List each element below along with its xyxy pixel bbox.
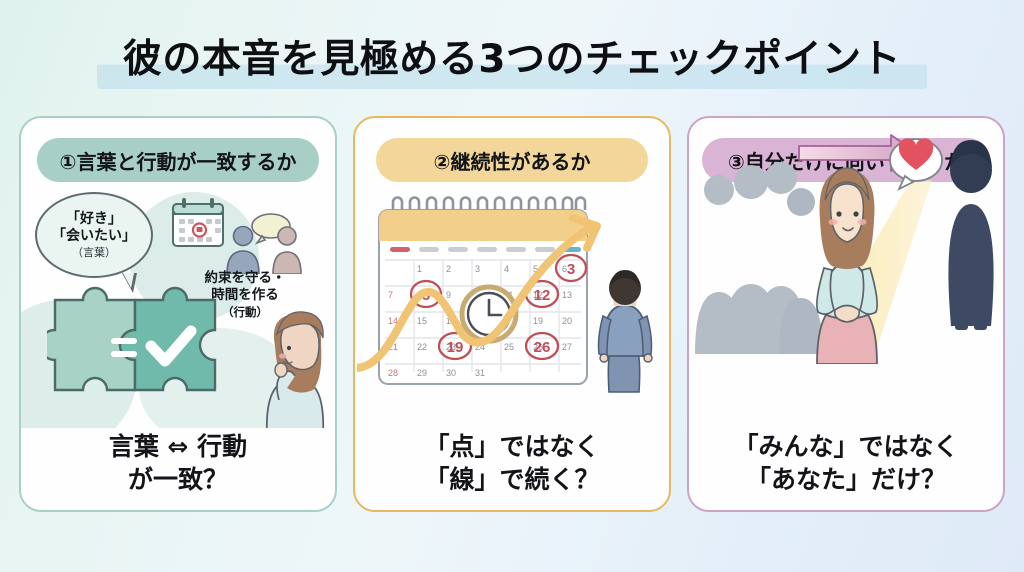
svg-text:19: 19 <box>447 339 464 356</box>
svg-text:29: 29 <box>417 368 427 378</box>
caption-line-2: が一致？ <box>21 463 335 496</box>
title-highlight: 彼の本音を見極める3つのチェックポイント <box>97 34 927 89</box>
card-2-illustration: 123 456 789 10111213 141516 17181920 212… <box>355 188 669 428</box>
caption-line-1: 「点」ではなく <box>355 430 669 463</box>
svg-text:2: 2 <box>446 264 451 274</box>
puzzle-pieces-icon <box>47 282 227 408</box>
card-2-heading: ②継続性があるか <box>376 138 648 182</box>
card-1-illustration: 「好き」 「会いたい」 （言葉） <box>21 188 335 428</box>
svg-text:21: 21 <box>388 342 398 352</box>
crowd-silhouettes-icon <box>695 162 823 354</box>
caption-line-1: 言葉 ⇔ 行動 <box>21 430 335 463</box>
svg-text:12: 12 <box>534 287 551 304</box>
thinking-woman-icon <box>237 304 335 428</box>
svg-text:26: 26 <box>534 339 551 356</box>
bubble-line-3: （言葉） <box>72 246 116 259</box>
svg-text:3: 3 <box>567 261 575 278</box>
svg-text:5: 5 <box>422 287 430 304</box>
caption-line-1: 「みんな」ではなく <box>689 430 1003 463</box>
checkpoint-card-1: ①言葉と行動が一致するか 「好き」 「会いたい」 （言葉） <box>19 116 337 512</box>
page-title: 彼の本音を見極める3つのチェックポイント <box>123 38 901 83</box>
spiral-rings <box>393 197 585 210</box>
spiral-calendar-icon: 123 456 789 10111213 141516 17181920 212… <box>371 194 595 390</box>
checkpoint-cards: ①言葉と行動が一致するか 「好き」 「会いたい」 （言葉） <box>0 116 1024 516</box>
card-3-caption: 「みんな」ではなく 「あなた」だけ？ <box>689 430 1003 496</box>
svg-text:15: 15 <box>417 316 427 326</box>
svg-text:16: 16 <box>446 316 456 326</box>
page-title-container: 彼の本音を見極める3つのチェックポイント <box>0 34 1024 89</box>
card-3-illustration <box>689 118 1005 364</box>
calendar-icon <box>169 196 227 250</box>
heart-bubble-icon <box>890 138 942 189</box>
svg-text:5: 5 <box>533 264 538 274</box>
bubble-line-2: 「会いたい」 <box>52 228 136 245</box>
svg-text:13: 13 <box>562 290 572 300</box>
svg-text:25: 25 <box>504 342 514 352</box>
svg-text:7: 7 <box>388 290 393 300</box>
svg-text:30: 30 <box>446 368 456 378</box>
speech-bubble-words: 「好き」 「会いたい」 （言葉） <box>35 192 153 278</box>
caption-line-2: 「線」で続く？ <box>355 463 669 496</box>
svg-text:14: 14 <box>388 316 398 326</box>
checkpoint-card-2: ②継続性があるか <box>353 116 671 512</box>
card-1-caption: 言葉 ⇔ 行動 が一致？ <box>21 430 335 496</box>
svg-text:28: 28 <box>388 368 398 378</box>
two-people-talking-icon <box>221 210 305 274</box>
svg-text:19: 19 <box>533 316 543 326</box>
svg-text:9: 9 <box>446 290 451 300</box>
clock-icon <box>462 287 516 341</box>
svg-text:20: 20 <box>562 316 572 326</box>
card-2-caption: 「点」ではなく 「線」で続く？ <box>355 430 669 496</box>
man-silhouette-icon <box>948 140 993 330</box>
svg-text:31: 31 <box>475 368 485 378</box>
svg-text:22: 22 <box>417 342 427 352</box>
man-back-view-icon <box>587 264 663 396</box>
bubble-line-1: 「好き」 <box>66 211 122 228</box>
svg-text:1: 1 <box>417 264 422 274</box>
svg-text:3: 3 <box>475 264 480 274</box>
checkpoint-card-3: ③自分だけに向いているか <box>687 116 1005 512</box>
svg-text:4: 4 <box>504 264 509 274</box>
infographic-stage: 彼の本音を見極める3つのチェックポイント ①言葉と行動が一致するか 「好き」 「… <box>0 0 1024 572</box>
svg-text:24: 24 <box>475 342 485 352</box>
svg-text:27: 27 <box>562 342 572 352</box>
card-1-heading: ①言葉と行動が一致するか <box>37 138 319 182</box>
caption-line-2: 「あなた」だけ？ <box>689 463 1003 496</box>
